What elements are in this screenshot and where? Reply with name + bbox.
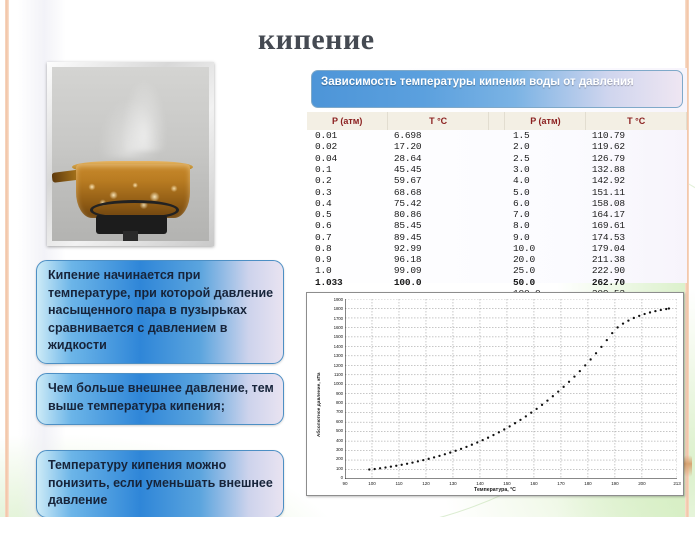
chart-data-point bbox=[546, 400, 548, 402]
chart-y-tick-label: 700 bbox=[321, 409, 343, 414]
chart-data-point bbox=[482, 439, 484, 441]
chart-data-point bbox=[438, 455, 440, 457]
cell-pressure-right: 2.0 bbox=[505, 141, 586, 152]
cell-gap bbox=[488, 186, 505, 197]
table-row: 0.996.1820.0211.38 bbox=[307, 254, 687, 265]
slide-canvas: кипение Зависимость температуры кипения … bbox=[0, 0, 695, 533]
chart-data-point bbox=[584, 364, 586, 366]
chart-x-tick-label: 190 bbox=[611, 481, 618, 486]
chart-data-point bbox=[535, 408, 537, 410]
chart-data-point bbox=[411, 461, 413, 463]
chart-data-point bbox=[455, 450, 457, 452]
chart-data-point bbox=[476, 441, 478, 443]
chart-x-tick-label: 213 bbox=[673, 481, 680, 486]
cell-pressure-right: 4.0 bbox=[505, 175, 586, 186]
chart-data-point bbox=[606, 339, 608, 341]
chart-y-tick-label: 1800 bbox=[321, 306, 343, 311]
cell-temperature-right: 174.53 bbox=[586, 232, 687, 243]
chart-svg bbox=[345, 299, 677, 479]
chart-y-tick-label: 500 bbox=[321, 428, 343, 433]
cell-temperature-right: 110.79 bbox=[586, 130, 687, 141]
table-row: 0.0428.642.5126.79 bbox=[307, 153, 687, 164]
chart-y-tick-label: 800 bbox=[321, 400, 343, 405]
chart-series bbox=[368, 307, 670, 470]
table-row: 1.099.0925.0222.90 bbox=[307, 265, 687, 276]
burner-stem bbox=[123, 231, 139, 241]
cell-temperature-left: 6.698 bbox=[388, 130, 488, 141]
cell-pressure-right: 1.5 bbox=[505, 130, 586, 141]
chart-y-tick-label: 1000 bbox=[321, 381, 343, 386]
cell-gap bbox=[488, 209, 505, 220]
cell-gap bbox=[488, 232, 505, 243]
cell-pressure-left: 0.8 bbox=[307, 243, 388, 254]
chart-data-point bbox=[492, 434, 494, 436]
cell-pressure-left: 0.2 bbox=[307, 175, 388, 186]
chart-data-point bbox=[562, 386, 564, 388]
chart-data-point bbox=[395, 465, 397, 467]
chart-data-point bbox=[487, 437, 489, 439]
chart-data-point bbox=[589, 358, 591, 360]
table-row: 0.789.459.0174.53 bbox=[307, 232, 687, 243]
chart-data-point bbox=[428, 458, 430, 460]
chart-y-tick-label: 1900 bbox=[321, 297, 343, 302]
chart-data-point bbox=[665, 308, 667, 310]
chart-x-tick-label: 150 bbox=[503, 481, 510, 486]
chart-data-point bbox=[449, 451, 451, 453]
chart-data-point bbox=[444, 453, 446, 455]
chart-y-tick-label: 1700 bbox=[321, 316, 343, 321]
chart-x-tick-label: 160 bbox=[530, 481, 537, 486]
chart-data-point bbox=[530, 412, 532, 414]
chart-x-tick-label: 200 bbox=[638, 481, 645, 486]
cell-temperature-right: 132.88 bbox=[586, 164, 687, 175]
cell-pressure-right: 2.5 bbox=[505, 153, 586, 164]
chart-data-point bbox=[622, 322, 624, 324]
table-caption: Зависимость температуры кипения воды от … bbox=[311, 70, 683, 108]
left-edge-stripe bbox=[5, 0, 9, 533]
cell-temperature-left: 92.99 bbox=[388, 243, 488, 254]
table-row: 0.016.6981.5110.79 bbox=[307, 130, 687, 141]
cell-temperature-right: 222.90 bbox=[586, 265, 687, 276]
cell-temperature-right: 126.79 bbox=[586, 153, 687, 164]
column-header-t-left: T °C bbox=[388, 112, 488, 130]
chart-data-point bbox=[552, 395, 554, 397]
cell-temperature-left: 85.45 bbox=[388, 220, 488, 231]
chart-y-axis-ticks: 0100200300400500600700800900100011001200… bbox=[321, 299, 343, 477]
chart-data-point bbox=[660, 309, 662, 311]
chart-data-point bbox=[460, 448, 462, 450]
chart-data-point bbox=[525, 415, 527, 417]
cell-pressure-right: 25.0 bbox=[505, 265, 586, 276]
chart-x-tick-label: 140 bbox=[476, 481, 483, 486]
cell-gap bbox=[488, 220, 505, 231]
steam-plume bbox=[121, 77, 167, 151]
cell-temperature-right: 151.11 bbox=[586, 186, 687, 197]
chart-y-axis-label: Абсолютное давление, кПа bbox=[308, 327, 313, 341]
cell-pressure-right: 3.0 bbox=[505, 164, 586, 175]
column-gap bbox=[488, 112, 505, 130]
cell-gap bbox=[488, 277, 505, 288]
chart-data-point bbox=[633, 317, 635, 319]
cell-temperature-left: 68.68 bbox=[388, 186, 488, 197]
cell-gap bbox=[488, 243, 505, 254]
table-header-row: P (атм) T °C P (атм) T °C bbox=[307, 112, 687, 130]
cell-pressure-right: 6.0 bbox=[505, 198, 586, 209]
table-row: 0.145.453.0132.88 bbox=[307, 164, 687, 175]
chart-data-point bbox=[401, 464, 403, 466]
chart-data-point bbox=[503, 428, 505, 430]
pressure-temperature-chart: Абсолютное давление, кПа 010020030040050… bbox=[306, 292, 684, 496]
table-row: 0.892.9910.0179.04 bbox=[307, 243, 687, 254]
boiling-water-photo bbox=[47, 62, 214, 246]
chart-data-point bbox=[643, 313, 645, 315]
chart-data-point bbox=[600, 346, 602, 348]
cell-gap bbox=[488, 198, 505, 209]
chart-data-point bbox=[384, 466, 386, 468]
page-title: кипение bbox=[258, 23, 375, 57]
table-head: P (атм) T °C P (атм) T °C bbox=[307, 112, 687, 130]
cell-pressure-left: 1.0 bbox=[307, 265, 388, 276]
cell-temperature-right: 119.62 bbox=[586, 141, 687, 152]
cell-pressure-right: 7.0 bbox=[505, 209, 586, 220]
callout-boiling-definition: Кипение начинается при температуре, при … bbox=[36, 260, 284, 364]
chart-y-tick-label: 600 bbox=[321, 419, 343, 424]
right-edge-tick bbox=[684, 455, 692, 477]
chart-x-axis-ticks: 90100110120130140150160170180190200213 bbox=[345, 479, 677, 486]
cell-temperature-left: 96.18 bbox=[388, 254, 488, 265]
chart-y-tick-label: 200 bbox=[321, 456, 343, 461]
cell-temperature-right: 164.17 bbox=[586, 209, 687, 220]
cell-temperature-left: 28.64 bbox=[388, 153, 488, 164]
table-row: 0.368.685.0151.11 bbox=[307, 186, 687, 197]
table-row: 1.033100.050.0262.70 bbox=[307, 277, 687, 288]
table-row: 0.259.674.0142.92 bbox=[307, 175, 687, 186]
cell-pressure-left: 1.033 bbox=[307, 277, 388, 288]
chart-y-tick-label: 1300 bbox=[321, 353, 343, 358]
chart-data-point bbox=[514, 422, 516, 424]
chart-data-point bbox=[649, 311, 651, 313]
chart-y-tick-label: 1100 bbox=[321, 372, 343, 377]
cell-gap bbox=[488, 164, 505, 175]
cell-temperature-right: 262.70 bbox=[586, 277, 687, 288]
chart-inner: Абсолютное давление, кПа 010020030040050… bbox=[307, 293, 683, 495]
cell-temperature-right: 169.61 bbox=[586, 220, 687, 231]
chart-data-point bbox=[390, 466, 392, 468]
pressure-temperature-table: P (атм) T °C P (атм) T °C 0.016.6981.511… bbox=[307, 112, 687, 299]
chart-x-tick-label: 120 bbox=[422, 481, 429, 486]
callout-lower-pressure: Температуру кипения можно понизить, если… bbox=[36, 450, 284, 518]
cell-gap bbox=[488, 254, 505, 265]
cell-pressure-left: 0.04 bbox=[307, 153, 388, 164]
chart-data-point bbox=[654, 310, 656, 312]
chart-data-point bbox=[465, 446, 467, 448]
chart-data-point bbox=[557, 391, 559, 393]
chart-data-point bbox=[406, 463, 408, 465]
chart-y-tick-label: 1400 bbox=[321, 344, 343, 349]
chart-data-point bbox=[498, 431, 500, 433]
column-header-p-left: P (атм) bbox=[307, 112, 388, 130]
chart-data-point bbox=[509, 425, 511, 427]
chart-data-point bbox=[374, 468, 376, 470]
chart-x-tick-label: 100 bbox=[368, 481, 375, 486]
cell-pressure-right: 10.0 bbox=[505, 243, 586, 254]
chart-y-tick-label: 1500 bbox=[321, 334, 343, 339]
chart-data-point bbox=[417, 460, 419, 462]
cell-temperature-left: 45.45 bbox=[388, 164, 488, 175]
photo-image bbox=[52, 67, 209, 241]
chart-data-point bbox=[368, 468, 370, 470]
cell-temperature-left: 100.0 bbox=[388, 277, 488, 288]
cell-pressure-left: 0.7 bbox=[307, 232, 388, 243]
chart-data-point bbox=[568, 381, 570, 383]
cell-pressure-right: 9.0 bbox=[505, 232, 586, 243]
cell-pressure-right: 20.0 bbox=[505, 254, 586, 265]
chart-y-tick-label: 0 bbox=[321, 475, 343, 480]
cell-pressure-left: 0.6 bbox=[307, 220, 388, 231]
cell-pressure-right: 50.0 bbox=[505, 277, 586, 288]
cell-temperature-right: 211.38 bbox=[586, 254, 687, 265]
cell-pressure-left: 0.01 bbox=[307, 130, 388, 141]
cell-pressure-left: 0.3 bbox=[307, 186, 388, 197]
chart-data-point bbox=[471, 444, 473, 446]
chart-y-tick-label: 1200 bbox=[321, 362, 343, 367]
chart-plot-area bbox=[345, 299, 677, 479]
cell-pressure-left: 0.1 bbox=[307, 164, 388, 175]
cell-temperature-right: 179.04 bbox=[586, 243, 687, 254]
chart-data-point bbox=[433, 456, 435, 458]
chart-y-tick-label: 300 bbox=[321, 447, 343, 452]
chart-y-tick-label: 400 bbox=[321, 437, 343, 442]
chart-data-point bbox=[579, 370, 581, 372]
chart-x-tick-label: 180 bbox=[584, 481, 591, 486]
table-row: 0.685.458.0169.61 bbox=[307, 220, 687, 231]
table-row: 0.580.867.0164.17 bbox=[307, 209, 687, 220]
cell-temperature-left: 75.42 bbox=[388, 198, 488, 209]
bottom-white-band bbox=[0, 517, 695, 533]
cell-pressure-right: 8.0 bbox=[505, 220, 586, 231]
cell-temperature-left: 59.67 bbox=[388, 175, 488, 186]
chart-data-point bbox=[573, 375, 575, 377]
chart-data-point bbox=[541, 404, 543, 406]
chart-data-point bbox=[627, 319, 629, 321]
cell-temperature-left: 17.20 bbox=[388, 141, 488, 152]
callout-higher-pressure: Чем больше внешнее давление, тем выше те… bbox=[36, 373, 284, 425]
table-row: 0.0217.202.0119.62 bbox=[307, 141, 687, 152]
cell-temperature-left: 80.86 bbox=[388, 209, 488, 220]
cell-pressure-right: 5.0 bbox=[505, 186, 586, 197]
chart-x-tick-label: 90 bbox=[343, 481, 348, 486]
cell-temperature-right: 158.08 bbox=[586, 198, 687, 209]
chart-x-tick-label: 130 bbox=[449, 481, 456, 486]
column-header-p-right: P (атм) bbox=[505, 112, 586, 130]
cell-pressure-left: 0.5 bbox=[307, 209, 388, 220]
cell-temperature-left: 89.45 bbox=[388, 232, 488, 243]
chart-data-point bbox=[595, 352, 597, 354]
chart-y-tick-label: 100 bbox=[321, 465, 343, 470]
cell-gap bbox=[488, 265, 505, 276]
chart-data-point bbox=[379, 467, 381, 469]
cell-pressure-left: 0.9 bbox=[307, 254, 388, 265]
chart-y-tick-label: 1600 bbox=[321, 325, 343, 330]
table-body: 0.016.6981.5110.790.0217.202.0119.620.04… bbox=[307, 130, 687, 299]
chart-x-tick-label: 170 bbox=[557, 481, 564, 486]
cell-gap bbox=[488, 153, 505, 164]
chart-data-point bbox=[668, 307, 670, 309]
cell-temperature-right: 142.92 bbox=[586, 175, 687, 186]
cell-temperature-left: 99.09 bbox=[388, 265, 488, 276]
table-row: 0.475.426.0158.08 bbox=[307, 198, 687, 209]
chart-y-tick-label: 900 bbox=[321, 390, 343, 395]
chart-x-tick-label: 110 bbox=[395, 481, 402, 486]
chart-data-point bbox=[519, 419, 521, 421]
chart-axis-lines bbox=[345, 299, 677, 479]
chart-data-point bbox=[422, 459, 424, 461]
cell-gap bbox=[488, 130, 505, 141]
chart-x-axis-label: Температура, °C bbox=[307, 487, 683, 493]
cell-gap bbox=[488, 141, 505, 152]
column-header-t-right: T °C bbox=[586, 112, 687, 130]
chart-data-point bbox=[611, 332, 613, 334]
chart-data-point bbox=[638, 315, 640, 317]
chart-data-point bbox=[616, 326, 618, 328]
cell-pressure-left: 0.4 bbox=[307, 198, 388, 209]
cell-gap bbox=[488, 175, 505, 186]
cell-pressure-left: 0.02 bbox=[307, 141, 388, 152]
